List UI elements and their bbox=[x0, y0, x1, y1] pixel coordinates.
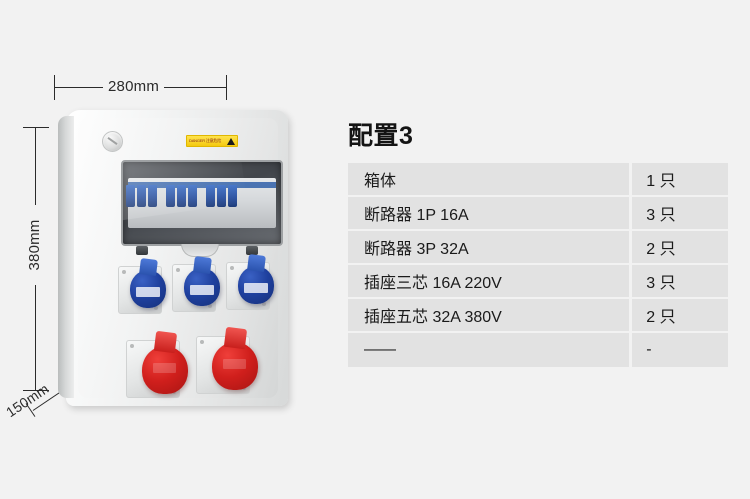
spec-item-name: 箱体 bbox=[348, 163, 632, 197]
spec-item-name: —— bbox=[348, 333, 632, 367]
spec-item-qty: 2 只 bbox=[632, 231, 728, 265]
spec-item-name: 插座五芯 32A 380V bbox=[348, 299, 632, 333]
width-dimension-tick-right bbox=[226, 75, 227, 100]
socket-blue-3pin bbox=[184, 268, 220, 306]
socket-rating-label bbox=[190, 285, 213, 295]
cover-handle bbox=[181, 244, 219, 257]
socket-lid bbox=[139, 258, 157, 276]
product-photo-panel: 280mm 380mm 150mm DANGER 注意危险 bbox=[0, 0, 330, 499]
spec-item-name: 插座三芯 16A 220V bbox=[348, 265, 632, 299]
depth-dimension-label: 150mm bbox=[3, 380, 51, 420]
table-row: —— - bbox=[348, 333, 728, 367]
socket-rating-label bbox=[244, 283, 267, 293]
socket-lid bbox=[224, 326, 247, 349]
socket-rating-label bbox=[223, 359, 246, 369]
spec-item-qty: 1 只 bbox=[632, 163, 728, 197]
spec-item-qty: 3 只 bbox=[632, 265, 728, 299]
socket-lid bbox=[193, 256, 211, 274]
box-left-side bbox=[58, 116, 74, 398]
table-row: 箱体 1 只 bbox=[348, 163, 728, 197]
width-dimension-tick-left bbox=[54, 75, 55, 100]
socket-red-5pin bbox=[142, 346, 188, 394]
socket-lid bbox=[247, 254, 265, 272]
table-row: 断路器 1P 16A 3 只 bbox=[348, 197, 728, 231]
height-dimension-tick-top bbox=[23, 127, 49, 128]
warning-sticker: DANGER 注意危险 bbox=[186, 135, 238, 147]
height-dimension-label: 380mm bbox=[25, 205, 45, 285]
specification-panel: 配置3 箱体 1 只 断路器 1P 16A 3 只 断路器 3P 32A 2 只… bbox=[348, 0, 728, 499]
page-title: 配置3 bbox=[348, 116, 413, 152]
socket-blue-3pin bbox=[130, 270, 166, 308]
spec-item-name: 断路器 1P 16A bbox=[348, 197, 632, 231]
cover-latch-left bbox=[136, 246, 148, 255]
width-dimension-label: 280mm bbox=[103, 77, 164, 97]
distribution-box-image: DANGER 注意危险 bbox=[58, 110, 288, 410]
spec-item-qty: - bbox=[632, 333, 728, 367]
table-row: 断路器 3P 32A 2 只 bbox=[348, 231, 728, 265]
warning-sticker-text: DANGER 注意危险 bbox=[189, 138, 227, 144]
screw-icon bbox=[102, 131, 123, 152]
product-spec-page: 280mm 380mm 150mm DANGER 注意危险 bbox=[0, 0, 750, 499]
table-row: 插座三芯 16A 220V 3 只 bbox=[348, 265, 728, 299]
socket-red-5pin bbox=[212, 342, 258, 390]
warning-triangle-icon bbox=[227, 138, 235, 145]
socket-lid bbox=[154, 330, 177, 353]
socket-blue-3pin bbox=[238, 266, 274, 304]
socket-rating-label bbox=[136, 287, 159, 297]
spec-item-qty: 2 只 bbox=[632, 299, 728, 333]
specification-table: 箱体 1 只 断路器 1P 16A 3 只 断路器 3P 32A 2 只 插座三… bbox=[348, 163, 728, 367]
breaker-window bbox=[121, 160, 283, 246]
box-front-face: DANGER 注意危险 bbox=[78, 118, 278, 398]
table-row: 插座五芯 32A 380V 2 只 bbox=[348, 299, 728, 333]
socket-rating-label bbox=[153, 363, 176, 373]
spec-item-qty: 3 只 bbox=[632, 197, 728, 231]
spec-item-name: 断路器 3P 32A bbox=[348, 231, 632, 265]
